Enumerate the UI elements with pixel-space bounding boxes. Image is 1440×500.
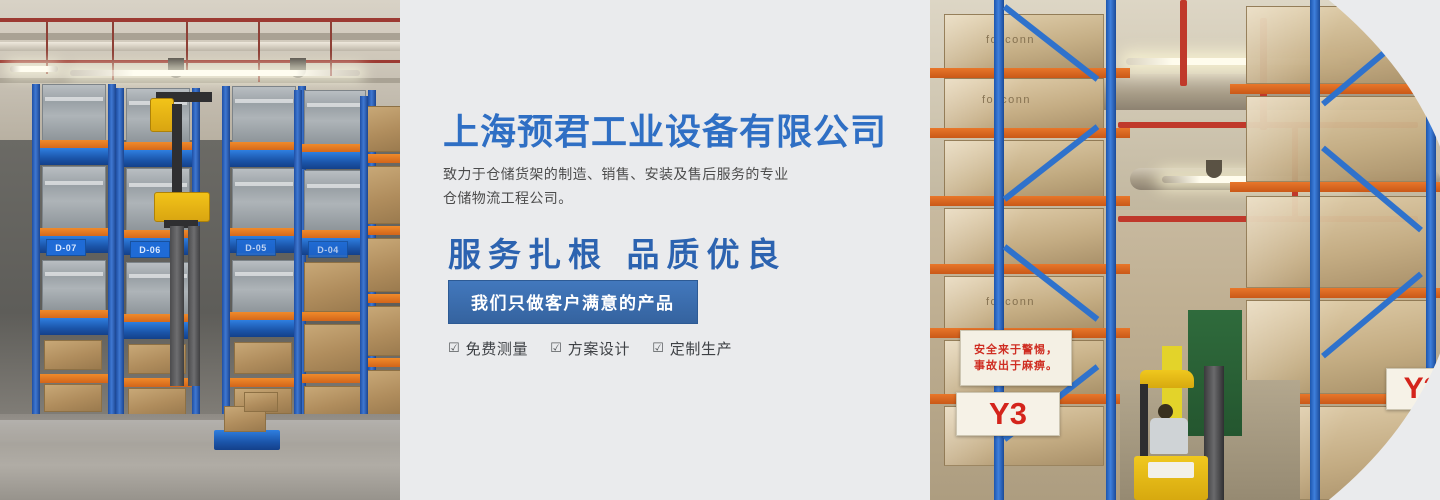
blue-pallet — [34, 318, 116, 335]
warehouse-floor — [0, 414, 400, 500]
slogan: 服务扎根 品质优良 — [448, 228, 787, 276]
stacked-crate — [304, 170, 366, 232]
forklift-overhead-guard — [1140, 370, 1194, 388]
ceiling-light — [70, 70, 360, 76]
stacked-crate — [232, 260, 296, 314]
stacked-crate — [232, 86, 296, 144]
carton-box — [234, 342, 292, 374]
forklift-boom — [150, 98, 174, 132]
carton-box — [366, 370, 400, 416]
safety-sign: 安全来于警惕， 事故出于麻痹。 — [960, 330, 1072, 386]
feature-item: ☑ 免费测量 — [448, 338, 528, 359]
hero-banner: D-07 D-06 — [0, 0, 1440, 500]
rack-upright — [294, 90, 302, 440]
forklift-decal — [1148, 462, 1194, 478]
feature-label: 免费测量 — [466, 338, 528, 359]
left-warehouse-photo: D-07 D-06 — [0, 0, 400, 500]
stacked-crate — [42, 260, 106, 312]
wrapped-pallet — [944, 140, 1104, 198]
rack-beam — [930, 68, 1130, 78]
carton-box — [128, 388, 186, 416]
check-icon: ☑ — [448, 342, 460, 355]
carton-box — [304, 262, 366, 312]
rack-beam — [1230, 288, 1440, 298]
stacked-crate — [42, 166, 106, 230]
blue-pallet — [34, 148, 116, 165]
subtitle-line-1: 致力于仓储货架的制造、销售、安装及售后服务的专业 — [443, 163, 863, 187]
aisle-sign-right: Y3 — [1386, 368, 1440, 410]
hero-content: 上海预君工业设备有限公司 致力于仓储货架的制造、销售、安装及售后服务的专业 仓储… — [443, 0, 943, 500]
rack-label: D-04 — [308, 241, 348, 258]
carton-box — [366, 238, 400, 292]
subtitle-line-2: 仓储物流工程公司。 — [443, 187, 863, 211]
carton-brand-label: foxconn — [982, 94, 1031, 106]
right-warehouse-photo: foxconn foxconn foxconn foxconn — [930, 0, 1440, 500]
rack-label: D-07 — [46, 239, 86, 256]
carton-box — [44, 340, 102, 370]
rack-upright — [1106, 0, 1116, 500]
forklift-mast — [188, 226, 200, 386]
carton-box — [366, 106, 400, 152]
sprinkler-pipe — [1180, 0, 1187, 86]
sprinkler-pipe — [0, 18, 400, 22]
pipe-hanger — [330, 22, 332, 76]
rack-tower: D-07 — [38, 84, 110, 464]
carton-box — [304, 324, 366, 372]
carton-box — [366, 306, 400, 356]
rack-label: D-05 — [236, 239, 276, 256]
company-title: 上海预君工业设备有限公司 — [443, 103, 887, 155]
forklift-column — [172, 104, 182, 200]
safety-sign-line2: 事故出于麻痹。 — [974, 358, 1058, 375]
rack-upright — [1426, 0, 1436, 500]
cta-button[interactable]: 我们只做客户满意的产品 — [448, 280, 698, 324]
rack-beam — [34, 374, 116, 383]
wrapped-pallet — [1246, 196, 1436, 288]
rack-upright — [360, 96, 368, 444]
roof-beam — [0, 78, 400, 83]
forklift-cab — [154, 192, 210, 222]
rack-beam — [930, 128, 1130, 138]
rack-upright — [1310, 0, 1320, 500]
forklift — [1126, 366, 1246, 500]
company-subtitle: 致力于仓储货架的制造、销售、安装及售后服务的专业 仓储物流工程公司。 — [443, 163, 863, 211]
operator-head — [1158, 404, 1173, 419]
rack-beam — [1230, 182, 1440, 192]
stacked-crate — [304, 90, 366, 146]
ceiling-light — [10, 66, 58, 72]
wrapped-pallet — [1246, 96, 1436, 182]
check-icon: ☑ — [550, 342, 562, 355]
rack-upright — [108, 84, 116, 436]
forklift-mast — [170, 226, 184, 386]
stacked-crate — [232, 168, 296, 230]
rack-upright — [32, 84, 40, 436]
feature-item: ☑ 方案设计 — [550, 338, 630, 359]
photo-content: foxconn foxconn foxconn foxconn — [930, 0, 1440, 500]
feature-label: 定制生产 — [670, 338, 732, 359]
rack-upright — [116, 88, 124, 438]
feature-item: ☑ 定制生产 — [652, 338, 732, 359]
rack-tower — [366, 96, 400, 464]
feature-label: 方案设计 — [568, 338, 630, 359]
ceiling-lamp — [1206, 160, 1222, 178]
operator-torso — [1150, 418, 1188, 454]
carton-box — [244, 392, 278, 412]
aisle-sign: Y3 — [956, 392, 1060, 436]
feature-list: ☑ 免费测量 ☑ 方案设计 ☑ 定制生产 — [448, 338, 732, 359]
reach-truck — [150, 92, 220, 392]
carton-box — [44, 384, 102, 412]
pipe-hanger — [186, 22, 188, 72]
roof-beam — [0, 33, 400, 40]
stacked-crate — [42, 84, 106, 142]
rack-beam — [930, 196, 1130, 206]
sprinkler-pipe — [0, 60, 400, 63]
check-icon: ☑ — [652, 342, 664, 355]
floor-pallet — [214, 430, 280, 450]
wrapped-pallet — [1246, 6, 1436, 84]
carton-box — [366, 166, 400, 224]
safety-sign-line1: 安全来于警惕， — [974, 342, 1058, 359]
rack-upright — [222, 86, 230, 438]
